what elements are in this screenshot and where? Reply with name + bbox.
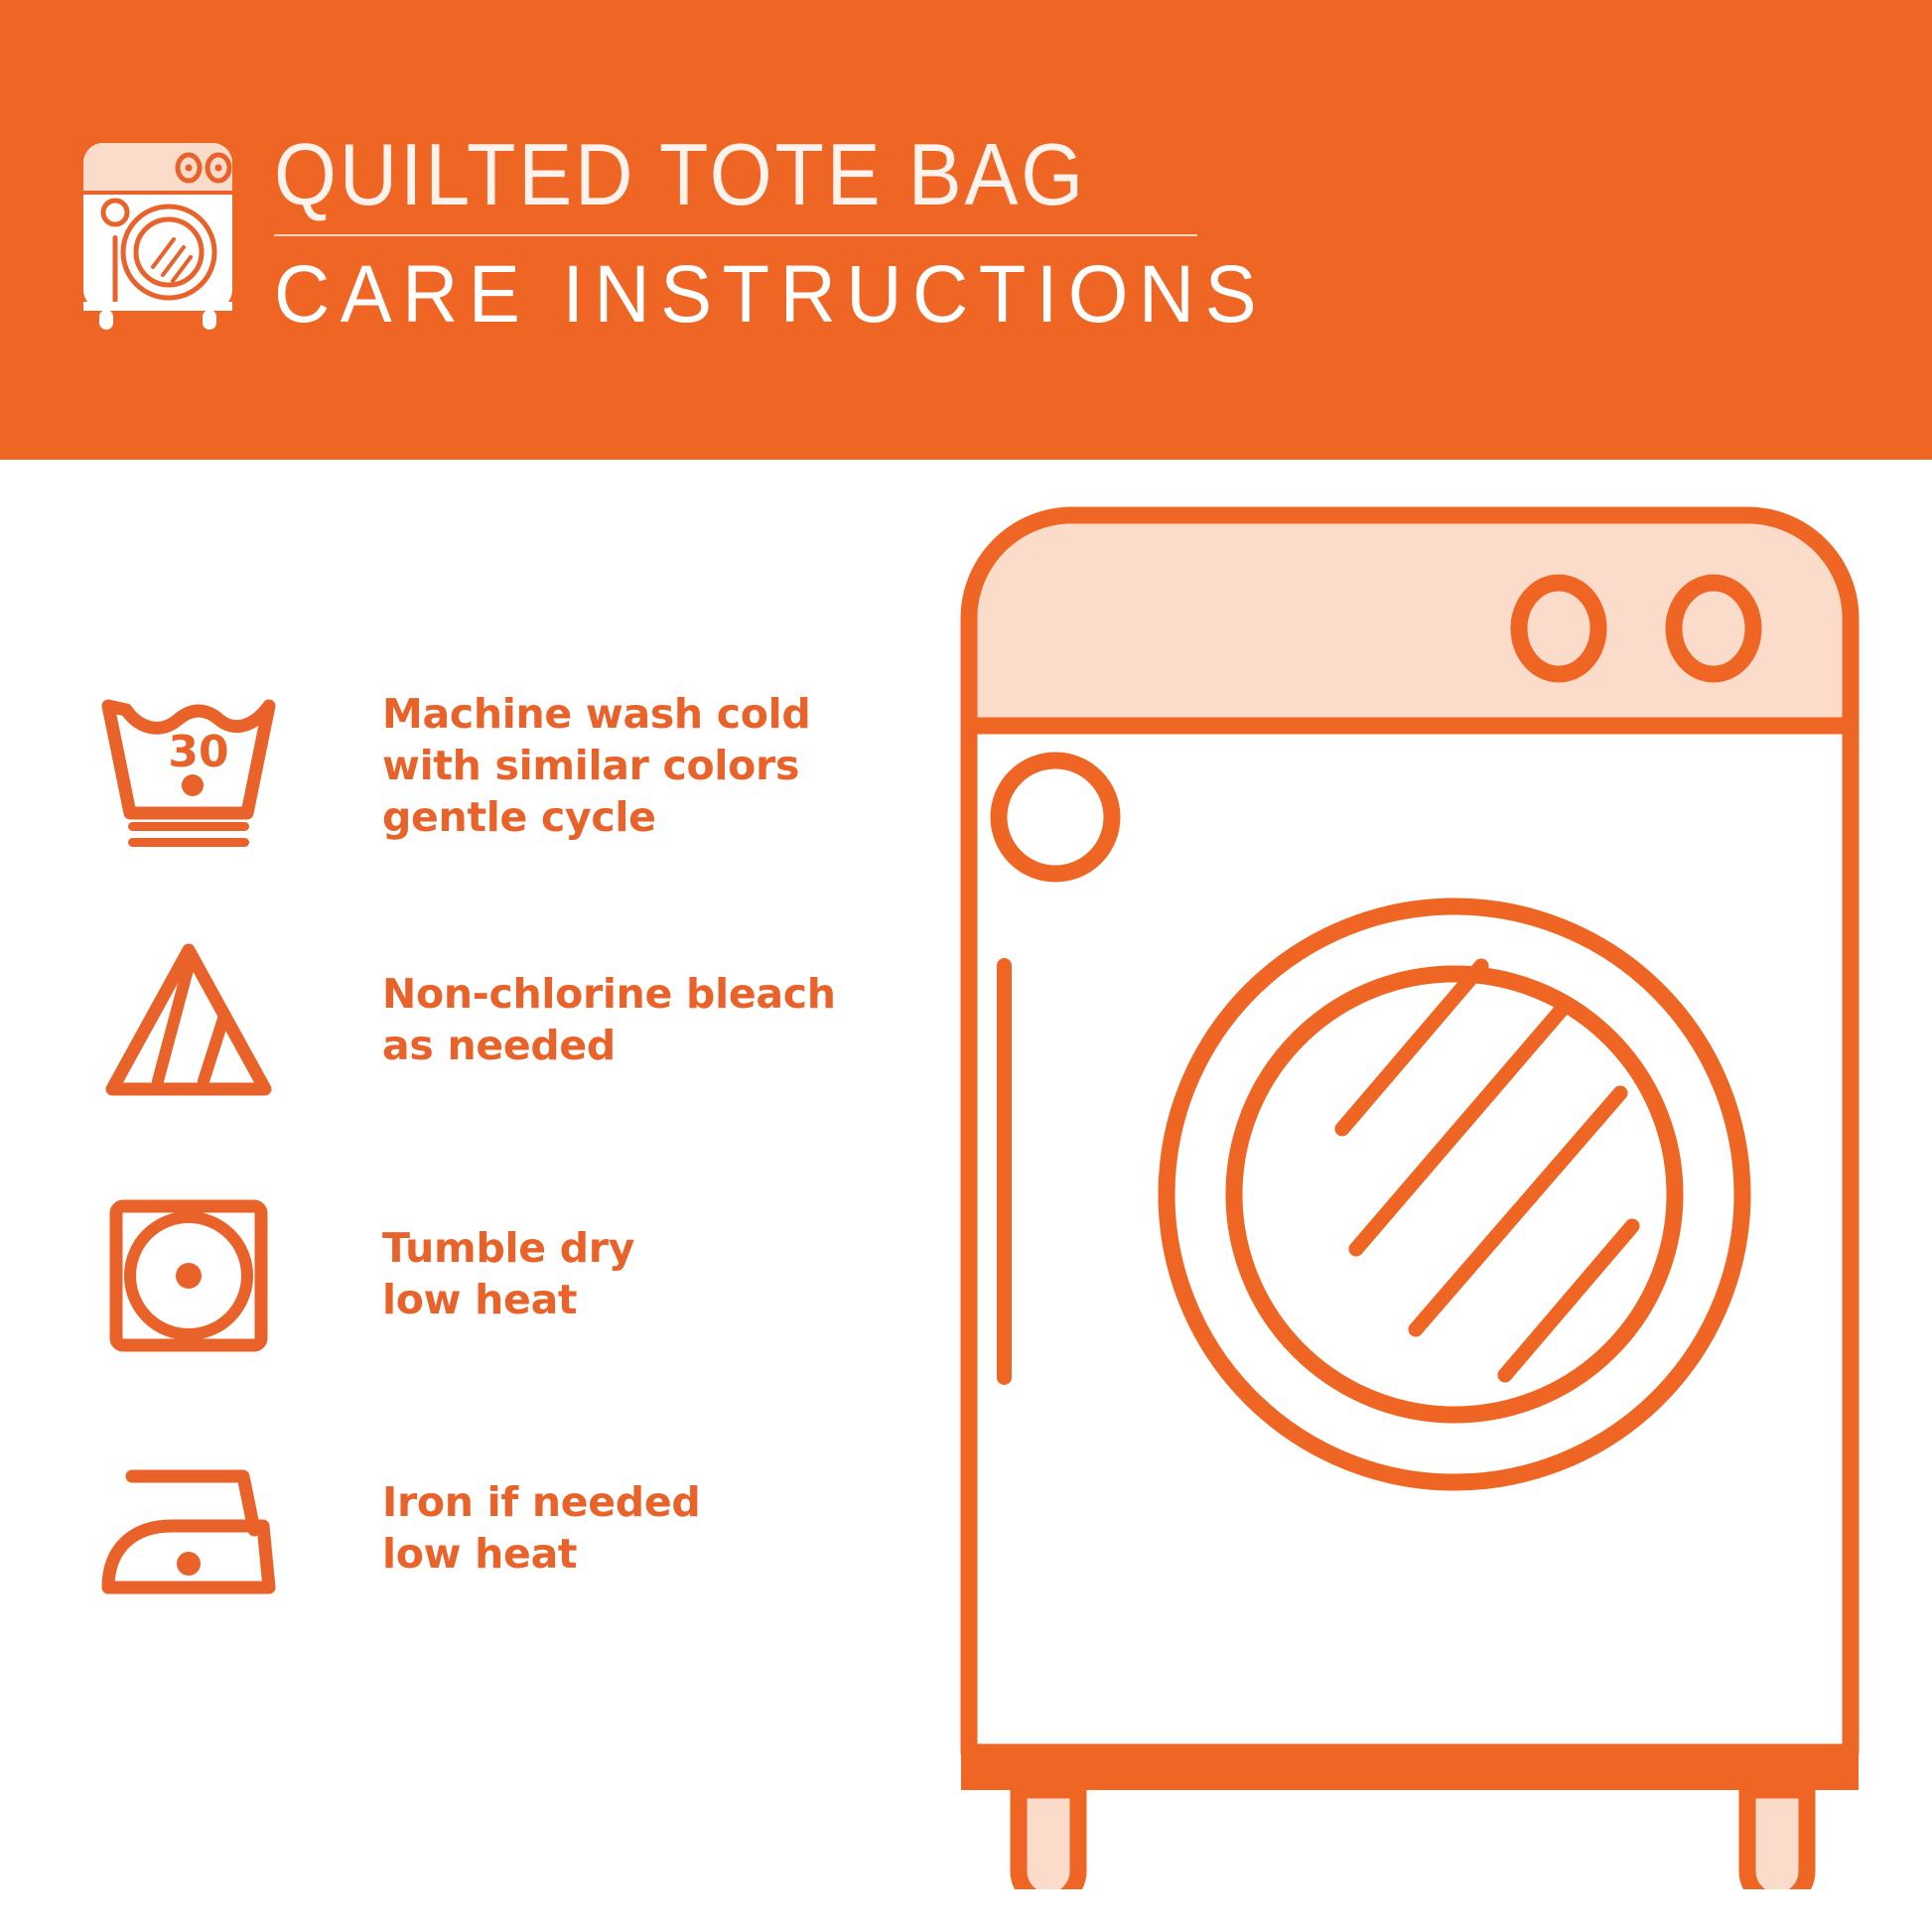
care-row-tumble-dry: Tumble dry low heat xyxy=(89,1147,923,1401)
care-text-bleach: Non-chlorine bleach as needed xyxy=(382,968,836,1071)
tumble-dry-square-icon xyxy=(89,1187,288,1361)
wash-tub-30-icon: 30 xyxy=(89,679,288,853)
bleach-triangle-icon xyxy=(89,933,288,1107)
title-divider xyxy=(274,234,1197,236)
wash-temperature-label: 30 xyxy=(168,727,228,777)
care-row-wash: 30 Machine wash cold with similar colors… xyxy=(89,638,923,893)
care-text-tumble-dry: Tumble dry low heat xyxy=(382,1222,634,1325)
care-row-bleach: Non-chlorine bleach as needed xyxy=(89,893,923,1147)
header-banner: QUILTED TOTE BAG CARE INSTRUCTIONS xyxy=(0,0,1932,460)
washing-machine-illustration xyxy=(953,499,1866,1889)
header-title-block: QUILTED TOTE BAG CARE INSTRUCTIONS xyxy=(274,127,1319,340)
washing-machine-logo-icon xyxy=(77,137,238,331)
care-text-iron: Iron if needed low heat xyxy=(382,1476,700,1580)
page-subtitle: CARE INSTRUCTIONS xyxy=(274,250,1267,340)
iron-icon xyxy=(89,1442,288,1615)
care-row-iron: Iron if needed low heat xyxy=(89,1401,923,1655)
header-content: QUILTED TOTE BAG CARE INSTRUCTIONS xyxy=(77,127,1319,340)
care-text-wash: Machine wash cold with similar colors ge… xyxy=(382,688,810,843)
main-content: 30 Machine wash cold with similar colors… xyxy=(0,460,1932,1932)
care-instructions-list: 30 Machine wash cold with similar colors… xyxy=(89,638,923,1655)
page-title: QUILTED TOTE BAG xyxy=(274,127,1235,222)
